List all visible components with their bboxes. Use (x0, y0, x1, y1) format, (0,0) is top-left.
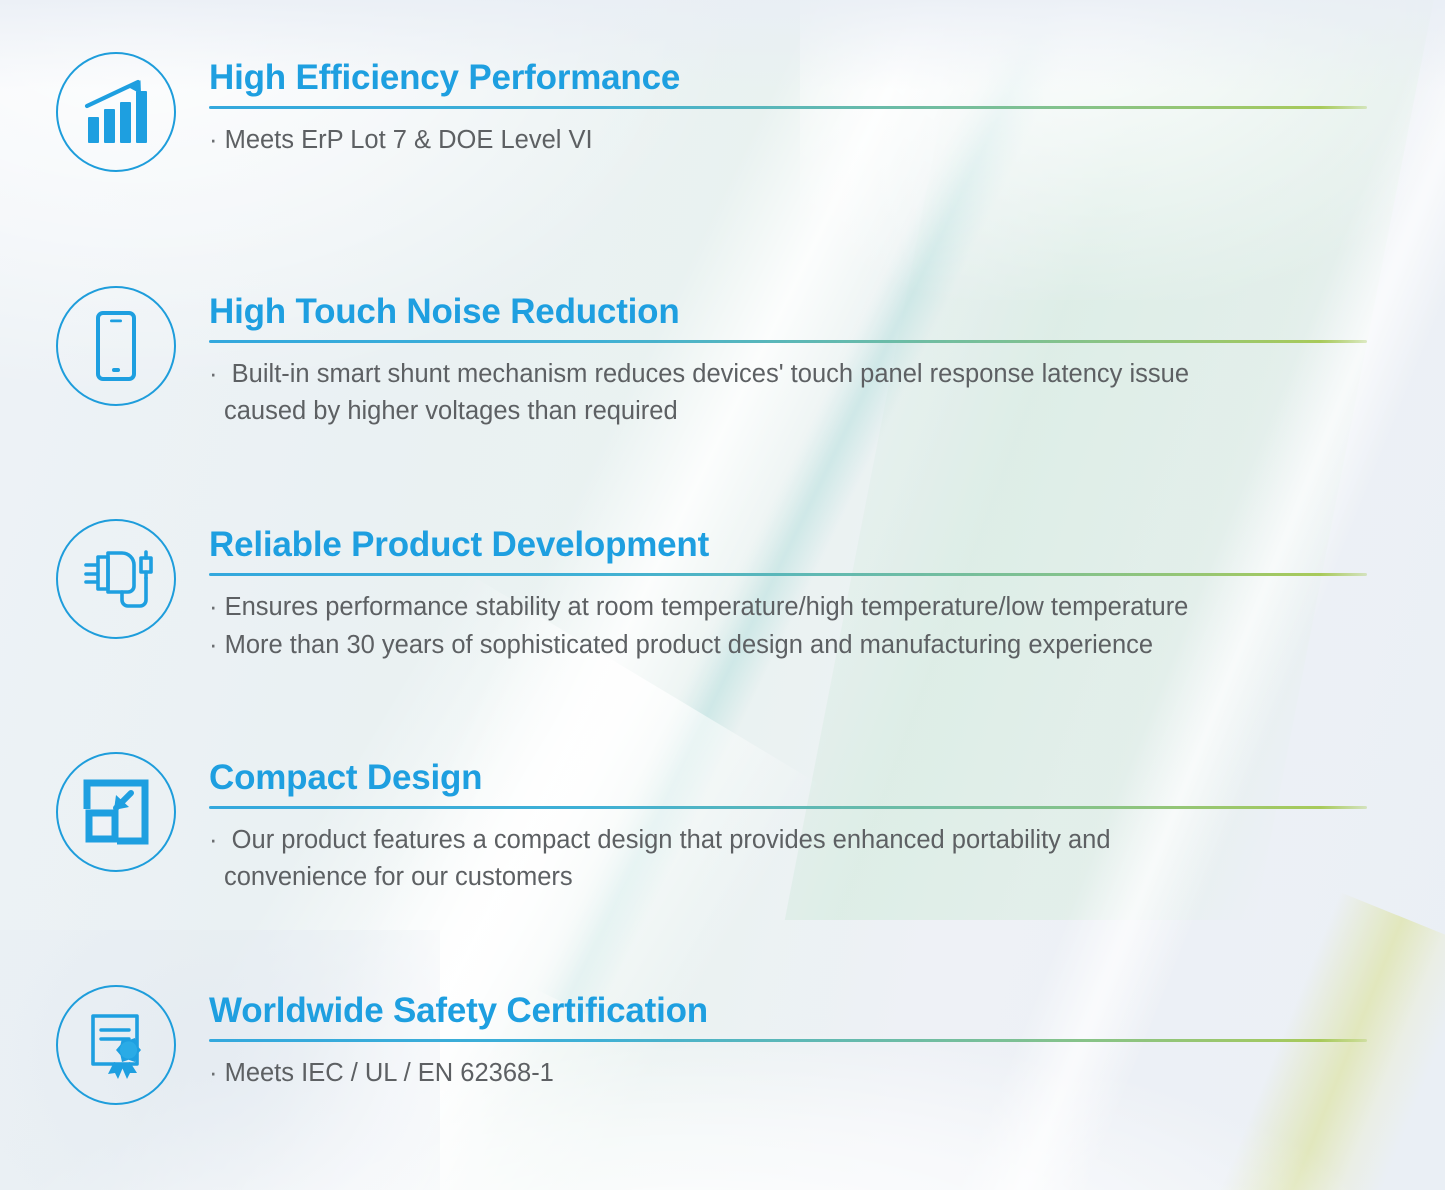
feature-divider (209, 806, 1367, 809)
feature-bullets: Our product features a compact design th… (209, 822, 1367, 895)
bullet-line: Meets IEC / UL / EN 62368-1 (225, 1059, 554, 1087)
feature-item-worldwide-safety-certification: Worldwide Safety Certification Meets IEC… (56, 985, 1368, 1105)
feature-item-high-efficiency-performance: High Efficiency Performance Meets ErP Lo… (56, 52, 1368, 172)
feature-body: Compact Design Our product features a co… (209, 752, 1367, 895)
certificate-seal-icon (56, 985, 176, 1105)
feature-highlights-page: High Efficiency Performance Meets ErP Lo… (0, 0, 1445, 1190)
bullet-line: More than 30 years of sophisticated prod… (225, 631, 1153, 659)
feature-item-high-touch-noise-reduction: High Touch Noise Reduction Built-in smar… (56, 286, 1368, 429)
feature-title: Worldwide Safety Certification (209, 991, 1367, 1030)
bullet-line: Built-in smart shunt mechanism reduces d… (232, 360, 1189, 388)
feature-item-compact-design: Compact Design Our product features a co… (56, 752, 1368, 895)
feature-title: Reliable Product Development (209, 525, 1367, 564)
bullet-line-wrap: convenience for our customers (224, 859, 1367, 895)
feature-divider (209, 1039, 1367, 1042)
feature-title: High Touch Noise Reduction (209, 292, 1367, 331)
features-list: High Efficiency Performance Meets ErP Lo… (0, 0, 1445, 1190)
smartphone-icon (56, 286, 176, 406)
bullet-item: More than 30 years of sophisticated prod… (209, 627, 1367, 663)
feature-bullets: Meets ErP Lot 7 & DOE Level VI (209, 122, 1367, 158)
feature-item-reliable-product-development: Reliable Product Development Ensures per… (56, 519, 1368, 663)
feature-divider (209, 573, 1367, 576)
bullet-item: Built-in smart shunt mechanism reduces d… (209, 356, 1367, 429)
bullet-line: Our product features a compact design th… (232, 826, 1111, 854)
feature-divider (209, 106, 1367, 109)
feature-bullets: Ensures performance stability at room te… (209, 589, 1367, 663)
bar-chart-growth-icon (56, 52, 176, 172)
feature-body: Worldwide Safety Certification Meets IEC… (209, 985, 1367, 1092)
bullet-item: Ensures performance stability at room te… (209, 589, 1367, 625)
feature-bullets: Meets IEC / UL / EN 62368-1 (209, 1055, 1367, 1091)
feature-title: Compact Design (209, 758, 1367, 797)
compact-resize-icon (56, 752, 176, 872)
bullet-line-wrap: caused by higher voltages than required (224, 393, 1367, 429)
feature-title: High Efficiency Performance (209, 58, 1367, 97)
feature-body: High Touch Noise Reduction Built-in smar… (209, 286, 1367, 429)
bullet-item: Meets IEC / UL / EN 62368-1 (209, 1055, 1367, 1091)
bullet-line: Meets ErP Lot 7 & DOE Level VI (225, 126, 593, 154)
feature-divider (209, 340, 1367, 343)
bullet-item: Meets ErP Lot 7 & DOE Level VI (209, 122, 1367, 158)
bullet-line: Ensures performance stability at room te… (225, 593, 1189, 621)
feature-bullets: Built-in smart shunt mechanism reduces d… (209, 356, 1367, 429)
power-adapter-icon (56, 519, 176, 639)
bullet-item: Our product features a compact design th… (209, 822, 1367, 895)
feature-body: High Efficiency Performance Meets ErP Lo… (209, 52, 1367, 159)
feature-body: Reliable Product Development Ensures per… (209, 519, 1367, 663)
